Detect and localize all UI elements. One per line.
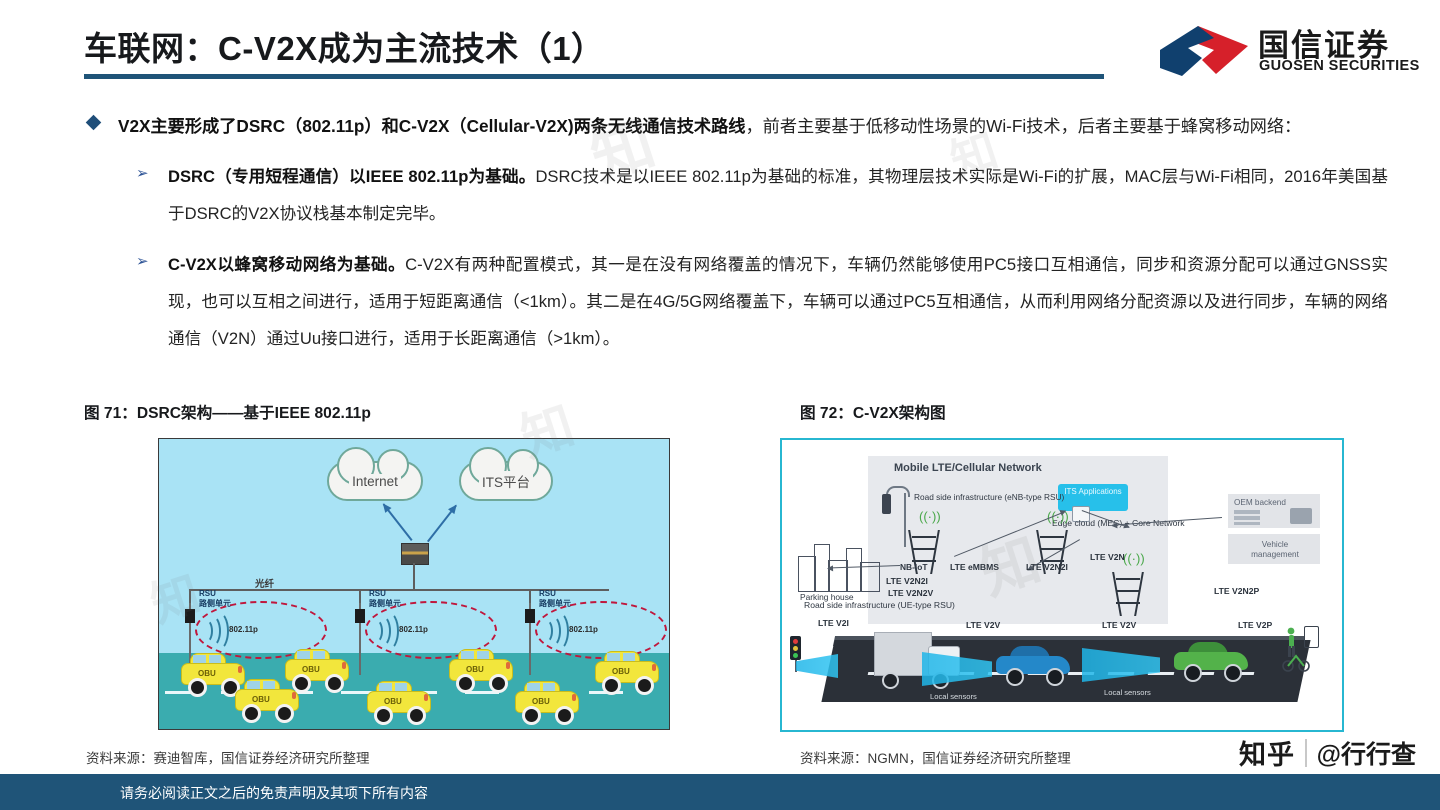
tag-lte-v2n2p-text: LTE V2N2P	[1214, 586, 1259, 596]
bullet-item-cv2x-text: C-V2X以蜂窝移动网络为基础。C-V2X有两种配置模式，其一是在没有网络覆盖的…	[168, 246, 1388, 357]
logo-text-en: GUOSEN SECURITIES	[1259, 58, 1420, 74]
tag-lte-v2n2i-text: LTE V2N2I	[886, 576, 928, 586]
figure-source-right: 资料来源：NGMN，国信证券经济研究所整理	[800, 747, 1071, 767]
tag-lte-v2p: LTE V2P	[1238, 620, 1272, 630]
car-wheel	[325, 674, 344, 693]
truck-wheel	[882, 672, 899, 689]
obu-label: OBU	[384, 697, 402, 706]
car-taillight	[572, 694, 576, 701]
nb-iot-label: NB-IoT	[900, 562, 927, 572]
rsu-box-icon	[525, 609, 535, 623]
tower-brace	[1116, 602, 1140, 604]
bullet-level1: V2X主要形成了DSRC（802.11p）和C-V2X（Cellular-V2X…	[84, 108, 1364, 144]
car-wheel	[635, 676, 654, 695]
tag-lte-v2p-text: LTE V2P	[1238, 620, 1272, 630]
page-title: 车联网：C-V2X成为主流技术（1）	[84, 22, 605, 70]
bullet-item-dsrc-bold: DSRC（专用短程通信）以IEEE 802.11p为基础。	[168, 167, 535, 186]
tag-lte-v2n2v: LTE V2N2V	[888, 588, 933, 598]
obu-label: OBU	[532, 697, 550, 706]
tag-lte-v2n2p: LTE V2N2P	[1214, 586, 1259, 596]
car-wheel	[555, 706, 574, 725]
tag-lte-v2n-text: LTE V2N	[1090, 552, 1125, 562]
car-taillight	[424, 694, 428, 701]
zhihu-logo: 知乎	[1239, 733, 1295, 772]
tower-brace	[1116, 590, 1140, 592]
divider	[1305, 739, 1307, 767]
vehicle-obu: OBU	[367, 681, 429, 715]
radio-wave-icon	[377, 611, 399, 651]
tag-lte-v2n2i-2-text: LTE V2N2I	[1026, 562, 1068, 572]
car-wheel	[374, 706, 393, 725]
tag-lte-v2i-text: LTE V2I	[818, 618, 849, 628]
obu-label: OBU	[252, 695, 270, 704]
antenna-signal-icon: ((·))	[919, 512, 941, 522]
brand-logo: 国信证券 GUOSEN SECURITIES	[1158, 20, 1418, 82]
lamp-mast	[904, 493, 906, 547]
tag-lte-v2v-2-text: LTE V2V	[1102, 620, 1136, 630]
trunk-drop-2	[359, 589, 361, 603]
tag-lte-v2v-1-text: LTE V2V	[966, 620, 1000, 630]
vehicle-obu: OBU	[449, 649, 511, 683]
content-bullets: V2X主要形成了DSRC（802.11p）和C-V2X（Cellular-V2X…	[84, 108, 1364, 357]
guosen-logo-icon	[1158, 24, 1250, 78]
zhihu-attribution: 知乎 @行行查	[1239, 733, 1416, 772]
slide-root: 车联网：C-V2X成为主流技术（1） 国信证券 GUOSEN SECURITIE…	[0, 0, 1440, 810]
car-taillight	[238, 666, 242, 673]
footer-disclaimer: 请务必阅读正文之后的免责声明及其项下所有内容	[120, 783, 428, 803]
tag-lte-v2v-2: LTE V2V	[1102, 620, 1136, 630]
local-sensors-label: Local sensors	[930, 692, 977, 701]
car-wheel	[242, 704, 261, 723]
roadside-infrastructure-label: Road side infrastructure (eNB-type RSU)	[914, 492, 1064, 503]
tower-brace	[1116, 578, 1140, 580]
traffic-light-green	[793, 653, 798, 658]
car-taillight	[292, 692, 296, 699]
car-wheel	[275, 704, 294, 723]
bullet-level1-bold: V2X主要形成了DSRC（802.11p）和C-V2X（Cellular-V2X…	[118, 116, 745, 136]
car-wheel	[1224, 664, 1242, 682]
tower-brace	[1040, 536, 1064, 538]
its-applications-box: ITS Applications	[1058, 484, 1128, 511]
tag-lte-v2i: LTE V2I	[818, 618, 849, 628]
tower-brace	[912, 536, 936, 538]
car-wheel	[407, 706, 426, 725]
vehicle-obu: OBU	[285, 649, 347, 683]
diamond-bullet-icon	[86, 115, 102, 131]
obu-label: OBU	[466, 665, 484, 674]
bullet-item-dsrc-text: DSRC（专用短程通信）以IEEE 802.11p为基础。DSRC技术是以IEE…	[168, 158, 1388, 232]
tag-lte-v2n2i-2: LTE V2N2I	[1026, 562, 1068, 572]
server-icon	[401, 543, 429, 565]
cell-tower-icon: ((·))	[1112, 564, 1146, 616]
local-sensors-label: Local sensors	[1104, 688, 1151, 697]
tag-lte-v2v-1: LTE V2V	[966, 620, 1000, 630]
tower-brace	[912, 548, 936, 550]
figure-caption-right: 图 72：C-V2X架构图	[800, 401, 946, 423]
vehicle-obu: OBU	[515, 681, 577, 715]
pedestrian-scooter-icon	[1282, 626, 1326, 674]
street-lamp-icon	[886, 486, 908, 546]
radio-standard-label: 802.11p	[569, 625, 598, 634]
cloud-its-platform: ITS平台	[459, 461, 553, 501]
traffic-light-yellow	[793, 646, 798, 651]
car-wheel	[1006, 668, 1024, 686]
vehicle-car-blue	[996, 646, 1070, 680]
tag-lte-v2n2v-text: LTE V2N2V	[888, 588, 933, 598]
obu-label: OBU	[198, 669, 216, 678]
radio-wave-icon	[207, 611, 229, 651]
bullet-level1-rest: ，前者主要基于低移动性场景的Wi-Fi技术，后者主要基于蜂窝移动网络：	[745, 116, 1301, 136]
arrow-bullet-icon: ➢	[136, 166, 149, 181]
bullet-level1-text: V2X主要形成了DSRC（802.11p）和C-V2X（Cellular-V2X…	[118, 108, 1364, 144]
radio-wave-icon	[547, 611, 569, 651]
tag-lte-embms: LTE eMBMS	[950, 562, 999, 572]
cloud-internet-label: Internet	[349, 474, 401, 489]
trunk-drop-1	[189, 589, 191, 603]
slide-footer: 请务必阅读正文之后的免责声明及其项下所有内容	[0, 774, 1440, 810]
car-taillight	[652, 664, 656, 671]
vehicle-obu: OBU	[595, 651, 657, 685]
figure-dsrc-architecture: Internet ITS平台 光纤 RSU 路侧单元 802.11p	[158, 438, 670, 730]
tag-roadside-ue-text: Road side infrastructure (UE-type RSU)	[804, 600, 955, 610]
arrow-bullet-icon-2: ➢	[136, 254, 149, 269]
rsu-label-main: RSU	[539, 589, 556, 598]
trunk-drop-3	[529, 589, 531, 603]
obu-label: OBU	[302, 665, 320, 674]
figure-cv2x-architecture: Mobile LTE/Cellular Network ITS Applicat…	[780, 438, 1344, 732]
tag-lte-embms-text: LTE eMBMS	[950, 562, 999, 572]
obu-label: OBU	[612, 667, 630, 676]
vehicle-obu: OBU	[181, 653, 243, 687]
sensor-beam	[796, 654, 838, 678]
figure-source-left: 资料来源：赛迪智库，国信证券经济研究所整理	[86, 747, 370, 767]
fiber-label: 光纤	[255, 576, 274, 590]
tag-lte-v2n2i: LTE V2N2I	[886, 576, 928, 586]
rsu-box-icon	[355, 609, 365, 623]
vehicle-car-green	[1174, 642, 1248, 676]
bullet-item-cv2x: ➢ C-V2X以蜂窝移动网络为基础。C-V2X有两种配置模式，其一是在没有网络覆…	[134, 246, 1388, 357]
oem-bar	[1234, 516, 1260, 520]
cloud-internet: Internet	[327, 461, 423, 501]
rsu-label-main: RSU	[199, 589, 216, 598]
car-wheel	[489, 674, 508, 693]
car-wheel	[1046, 668, 1064, 686]
lamp-head	[882, 494, 891, 514]
car-wheel	[1184, 664, 1202, 682]
vehicle-obu: OBU	[235, 679, 297, 713]
figure-caption-left: 图 71：DSRC架构——基于IEEE 802.11p	[84, 401, 371, 423]
oem-bar	[1234, 510, 1260, 514]
car-taillight	[506, 662, 510, 669]
rsu-box-icon	[185, 609, 195, 623]
bullet-item-dsrc: ➢ DSRC（专用短程通信）以IEEE 802.11p为基础。DSRC技术是以I…	[134, 158, 1388, 232]
bullet-item-cv2x-bold: C-V2X以蜂窝移动网络为基础。	[168, 255, 405, 274]
lte-network-title: Mobile LTE/Cellular Network	[894, 462, 1042, 474]
tag-roadside-ue: Road side infrastructure (UE-type RSU)	[804, 600, 955, 610]
antenna-signal-icon: ((·))	[1123, 554, 1145, 564]
car-wheel	[456, 674, 475, 693]
car-wheel	[188, 678, 207, 697]
vehicle-management-label: Vehicle management	[1244, 540, 1306, 560]
oem-server-icon	[1290, 508, 1312, 524]
oem-bar	[1234, 522, 1260, 525]
radio-standard-label: 802.11p	[399, 625, 428, 634]
traffic-light-red	[793, 639, 798, 644]
rsu-label-main: RSU	[369, 589, 386, 598]
tag-lte-v2n: LTE V2N	[1090, 552, 1125, 562]
car-wheel	[602, 676, 621, 695]
zhihu-username: @行行查	[1317, 735, 1416, 771]
slide-header: 车联网：C-V2X成为主流技术（1） 国信证券 GUOSEN SECURITIE…	[0, 0, 1440, 100]
oem-backend-label: OEM backend	[1234, 498, 1286, 507]
cloud-its-platform-label: ITS平台	[479, 471, 533, 491]
car-taillight	[342, 662, 346, 669]
title-underline	[84, 74, 1104, 79]
car-wheel	[522, 706, 541, 725]
car-wheel	[292, 674, 311, 693]
trunk-vertical	[413, 563, 415, 589]
radio-standard-label: 802.11p	[229, 625, 258, 634]
